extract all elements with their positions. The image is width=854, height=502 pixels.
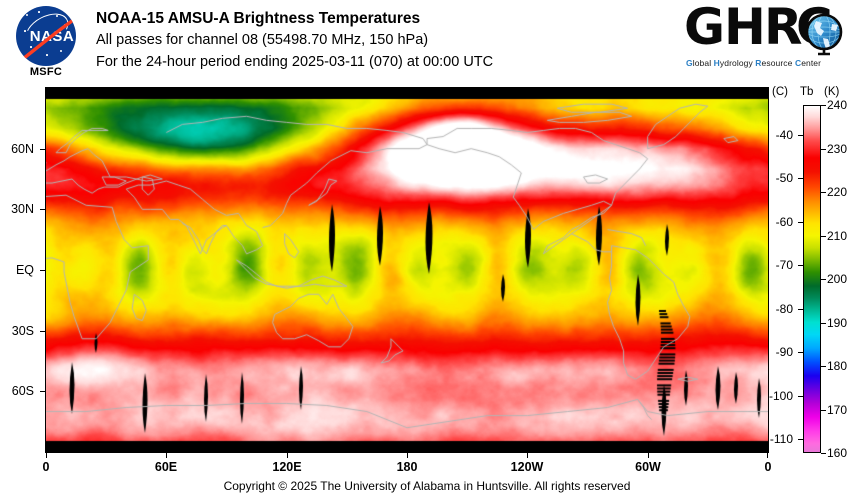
nasa-meatball-icon: NASA bbox=[16, 6, 76, 66]
colorbar-tick-k bbox=[821, 323, 826, 324]
ghrc-logo: G H R C bbox=[684, 4, 848, 76]
colorbar-label-c--50: -50 bbox=[759, 172, 793, 184]
colorbar-label-c--100: -100 bbox=[759, 390, 793, 402]
colorbar-gradient[interactable] bbox=[803, 105, 821, 453]
lat-label-60S: 60S bbox=[0, 385, 34, 397]
colorbar-label-k-220: 220 bbox=[827, 186, 854, 198]
ghrc-letter-g: G bbox=[684, 2, 725, 52]
lon-label-5: 60W bbox=[628, 461, 668, 473]
nasa-swoosh-icon bbox=[16, 10, 76, 66]
colorbar-unit-celsius: (C) bbox=[772, 86, 788, 98]
colorbar-tick-k bbox=[821, 192, 826, 193]
colorbar-label-k-210: 210 bbox=[827, 230, 854, 242]
lon-label-4: 120W bbox=[507, 461, 547, 473]
lat-label-60N: 60N bbox=[0, 143, 34, 155]
colorbar-tick-k bbox=[821, 366, 826, 367]
lon-label-6: 0 bbox=[748, 461, 788, 473]
lon-label-1: 60E bbox=[146, 461, 186, 473]
ghrc-sub-g: G bbox=[686, 58, 693, 68]
ghrc-sub-esource: esource bbox=[762, 58, 795, 68]
ghrc-sub-lobal: lobal bbox=[693, 58, 714, 68]
colorbar-label-c--60: -60 bbox=[759, 216, 793, 228]
colorbar-tick-c bbox=[798, 135, 803, 136]
period-subtitle: For the 24-hour period ending 2025-03-11… bbox=[96, 51, 493, 73]
lat-label-EQ: EQ bbox=[0, 264, 34, 276]
lat-tick bbox=[40, 149, 46, 150]
ghrc-wordmark: G H R C bbox=[684, 4, 848, 54]
colorbar-tick-c bbox=[798, 439, 803, 440]
colorbar-label-c--40: -40 bbox=[759, 129, 793, 141]
colorbar-label-k-240: 240 bbox=[827, 99, 854, 111]
colorbar-tick-c bbox=[798, 352, 803, 353]
colorbar-tick-c bbox=[798, 178, 803, 179]
colorbar-label-k-200: 200 bbox=[827, 273, 854, 285]
title-block: NOAA-15 AMSU-A Brightness Temperatures A… bbox=[96, 8, 493, 73]
lon-label-2: 120E bbox=[267, 461, 307, 473]
lat-tick bbox=[40, 331, 46, 332]
lat-tick bbox=[40, 270, 46, 271]
lon-label-3: 180 bbox=[387, 461, 427, 473]
colorbar-tick-k bbox=[821, 453, 826, 454]
lon-label-0: 0 bbox=[26, 461, 66, 473]
colorbar-label-c--80: -80 bbox=[759, 303, 793, 315]
ghrc-letter-h: H bbox=[724, 2, 766, 52]
ghrc-subtitle: Global Hydrology Resource Center bbox=[686, 56, 846, 70]
colorbar-tick-c bbox=[798, 265, 803, 266]
colorbar-label-k-160: 160 bbox=[827, 447, 854, 459]
colorbar-tick-c bbox=[798, 309, 803, 310]
colorbar-unit-kelvin: (K) bbox=[824, 86, 839, 98]
colorbar-unit-tb: Tb bbox=[800, 86, 813, 98]
header: NASA MSFC NOAA-15 AMSU-A Brightness Temp… bbox=[0, 0, 854, 88]
msfc-label: MSFC bbox=[10, 66, 82, 78]
colorbar-tick-c bbox=[798, 222, 803, 223]
channel-subtitle: All passes for channel 08 (55498.70 MHz,… bbox=[96, 29, 493, 51]
ghrc-sub-ydrology: ydrology bbox=[720, 58, 755, 68]
colorbar-label-k-170: 170 bbox=[827, 404, 854, 416]
colorbar-label-k-190: 190 bbox=[827, 317, 854, 329]
globe-icon bbox=[802, 12, 846, 56]
lon-tick bbox=[407, 452, 408, 458]
page-title: NOAA-15 AMSU-A Brightness Temperatures bbox=[96, 8, 493, 29]
colorbar-tick-k bbox=[821, 236, 826, 237]
lat-tick bbox=[40, 391, 46, 392]
lon-tick bbox=[287, 452, 288, 458]
colorbar-tick-k bbox=[821, 149, 826, 150]
lon-tick bbox=[767, 452, 768, 458]
nasa-msfc-logo: NASA MSFC bbox=[10, 4, 84, 82]
colorbar-label-k-230: 230 bbox=[827, 143, 854, 155]
lon-tick bbox=[648, 452, 649, 458]
colorbar-label-c--70: -70 bbox=[759, 259, 793, 271]
colorbar-label-k-180: 180 bbox=[827, 360, 854, 372]
lon-tick bbox=[46, 452, 47, 458]
colorbar-tick-c bbox=[798, 396, 803, 397]
lat-tick bbox=[40, 209, 46, 210]
map-raster bbox=[46, 88, 768, 452]
lat-label-30S: 30S bbox=[0, 325, 34, 337]
colorbar-label-c--90: -90 bbox=[759, 346, 793, 358]
colorbar-tick-k bbox=[821, 105, 826, 106]
colorbar-tick-k bbox=[821, 410, 826, 411]
lon-tick bbox=[527, 452, 528, 458]
copyright-notice: Copyright © 2025 The University of Alaba… bbox=[0, 479, 854, 493]
brightness-temperature-map[interactable] bbox=[46, 88, 768, 452]
lat-label-30N: 30N bbox=[0, 203, 34, 215]
colorbar-label-c--110: -110 bbox=[759, 433, 793, 445]
colorbar-tick-k bbox=[821, 279, 826, 280]
ghrc-sub-enter: enter bbox=[801, 58, 821, 68]
lon-tick bbox=[166, 452, 167, 458]
